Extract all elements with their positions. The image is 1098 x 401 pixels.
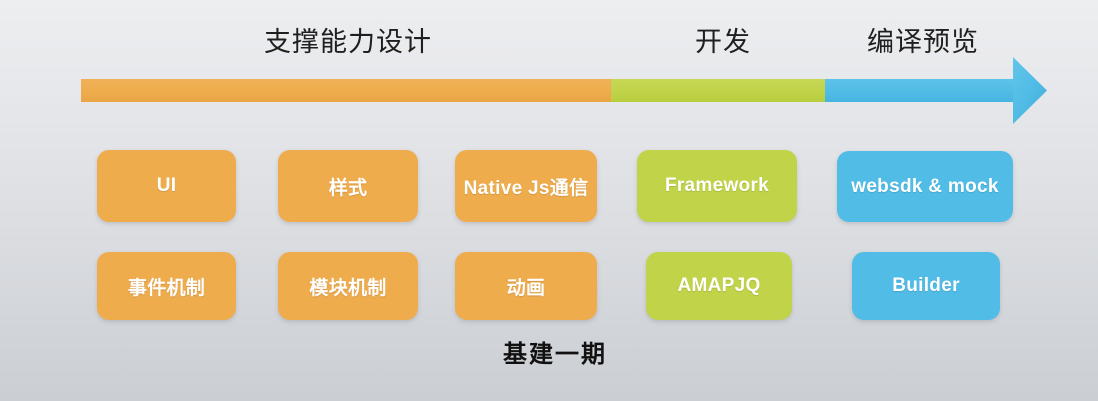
capability-chip[interactable]: Native Js通信 [455, 150, 597, 222]
capability-chip[interactable]: 模块机制 [278, 252, 418, 320]
arrow-segment-green [611, 79, 825, 102]
arrow-segment-blue [825, 79, 1013, 102]
arrow-segment-orange [81, 79, 611, 102]
arrow-head [1013, 57, 1047, 124]
phase-label-phase-compile-preview: 编译预览 [743, 25, 1098, 59]
capability-chip[interactable]: UI [97, 150, 236, 222]
capability-chip[interactable]: 事件机制 [97, 252, 236, 320]
capability-chip[interactable]: 动画 [455, 252, 597, 320]
capability-chip[interactable]: Framework [637, 150, 797, 222]
capability-chip[interactable]: 样式 [278, 150, 418, 222]
capability-chip[interactable]: AMAPJQ [646, 252, 792, 320]
capability-chip[interactable]: Builder [852, 252, 1000, 320]
diagram-canvas: 支撑能力设计开发编译预览 [0, 0, 1098, 401]
timeline-arrow [81, 57, 1047, 125]
timeline-arrow-svg [81, 57, 1047, 125]
phase-label-phase-support-capability-design: 支撑能力设计 [168, 25, 528, 59]
phase-caption: 基建一期 [375, 334, 735, 369]
capability-chip[interactable]: websdk & mock [837, 151, 1013, 222]
